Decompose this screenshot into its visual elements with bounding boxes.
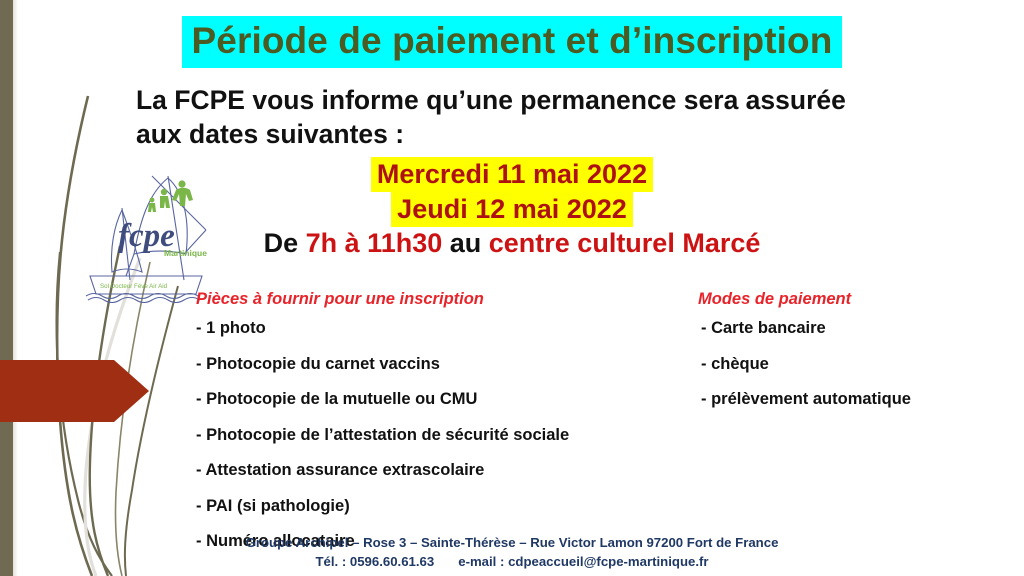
documents-column: Pièces à fournir pour une inscription - … bbox=[196, 290, 656, 569]
footer-phone: Tél. : 0596.60.61.63 bbox=[313, 554, 436, 569]
date-value-1: Mercredi 11 mai 2022 bbox=[371, 157, 653, 192]
list-item: - Photocopie du carnet vaccins bbox=[196, 356, 656, 373]
date-value-2: Jeudi 12 mai 2022 bbox=[391, 192, 633, 227]
payment-heading: Modes de paiement bbox=[698, 290, 994, 308]
dates-block: Mercredi 11 mai 2022 Jeudi 12 mai 2022 bbox=[0, 157, 1024, 227]
timeplace-prefix: De bbox=[264, 228, 306, 258]
footer: Groupe Archipel – Rose 3 – Sainte-Thérès… bbox=[0, 533, 1024, 571]
title-row: Période de paiement et d’inscription bbox=[0, 16, 1024, 68]
footer-contact: Tél. : 0596.60.61.63e-mail : cdpeaccueil… bbox=[0, 552, 1024, 571]
list-item: - Photocopie de la mutuelle ou CMU bbox=[196, 391, 656, 408]
intro-paragraph: La FCPE vous informe qu’une permanence s… bbox=[136, 84, 966, 152]
list-item: - chèque bbox=[701, 356, 994, 373]
red-arrow-decoration bbox=[0, 360, 149, 422]
page-title: Période de paiement et d’inscription bbox=[182, 16, 843, 68]
list-item: - Attestation assurance extrascolaire bbox=[196, 462, 656, 479]
timeplace-middle: au bbox=[442, 228, 489, 258]
list-item: - Carte bancaire bbox=[701, 320, 994, 337]
payment-column: Modes de paiement - Carte bancaire - chè… bbox=[694, 290, 994, 427]
intro-line-1: La FCPE vous informe qu’une permanence s… bbox=[136, 84, 966, 118]
list-item: - PAI (si pathologie) bbox=[196, 498, 656, 515]
intro-line-2: aux dates suivantes : bbox=[136, 118, 966, 152]
footer-address: Groupe Archipel – Rose 3 – Sainte-Thérès… bbox=[0, 533, 1024, 552]
time-and-place-line: De 7h à 11h30 au centre culturel Marcé bbox=[0, 228, 1024, 259]
documents-heading: Pièces à fournir pour une inscription bbox=[196, 290, 656, 308]
fcpe-hull-text: Sol Docteur Féve Air Aid bbox=[100, 283, 168, 290]
timeplace-hours: 7h à 11h30 bbox=[306, 228, 443, 258]
date-line-1: Mercredi 11 mai 2022 bbox=[0, 157, 1024, 192]
date-line-2: Jeudi 12 mai 2022 bbox=[0, 192, 1024, 227]
list-item: - Photocopie de l’attestation de sécurit… bbox=[196, 427, 656, 444]
slide-canvas: fcpe Martinique Sol Docteur Féve Air Aid… bbox=[0, 0, 1024, 576]
list-item: - prélèvement automatique bbox=[701, 391, 994, 408]
footer-email: e-mail : cdpeaccueil@fcpe-martinique.fr bbox=[456, 554, 710, 569]
list-item: - 1 photo bbox=[196, 320, 656, 337]
timeplace-venue: centre culturel Marcé bbox=[489, 228, 761, 258]
